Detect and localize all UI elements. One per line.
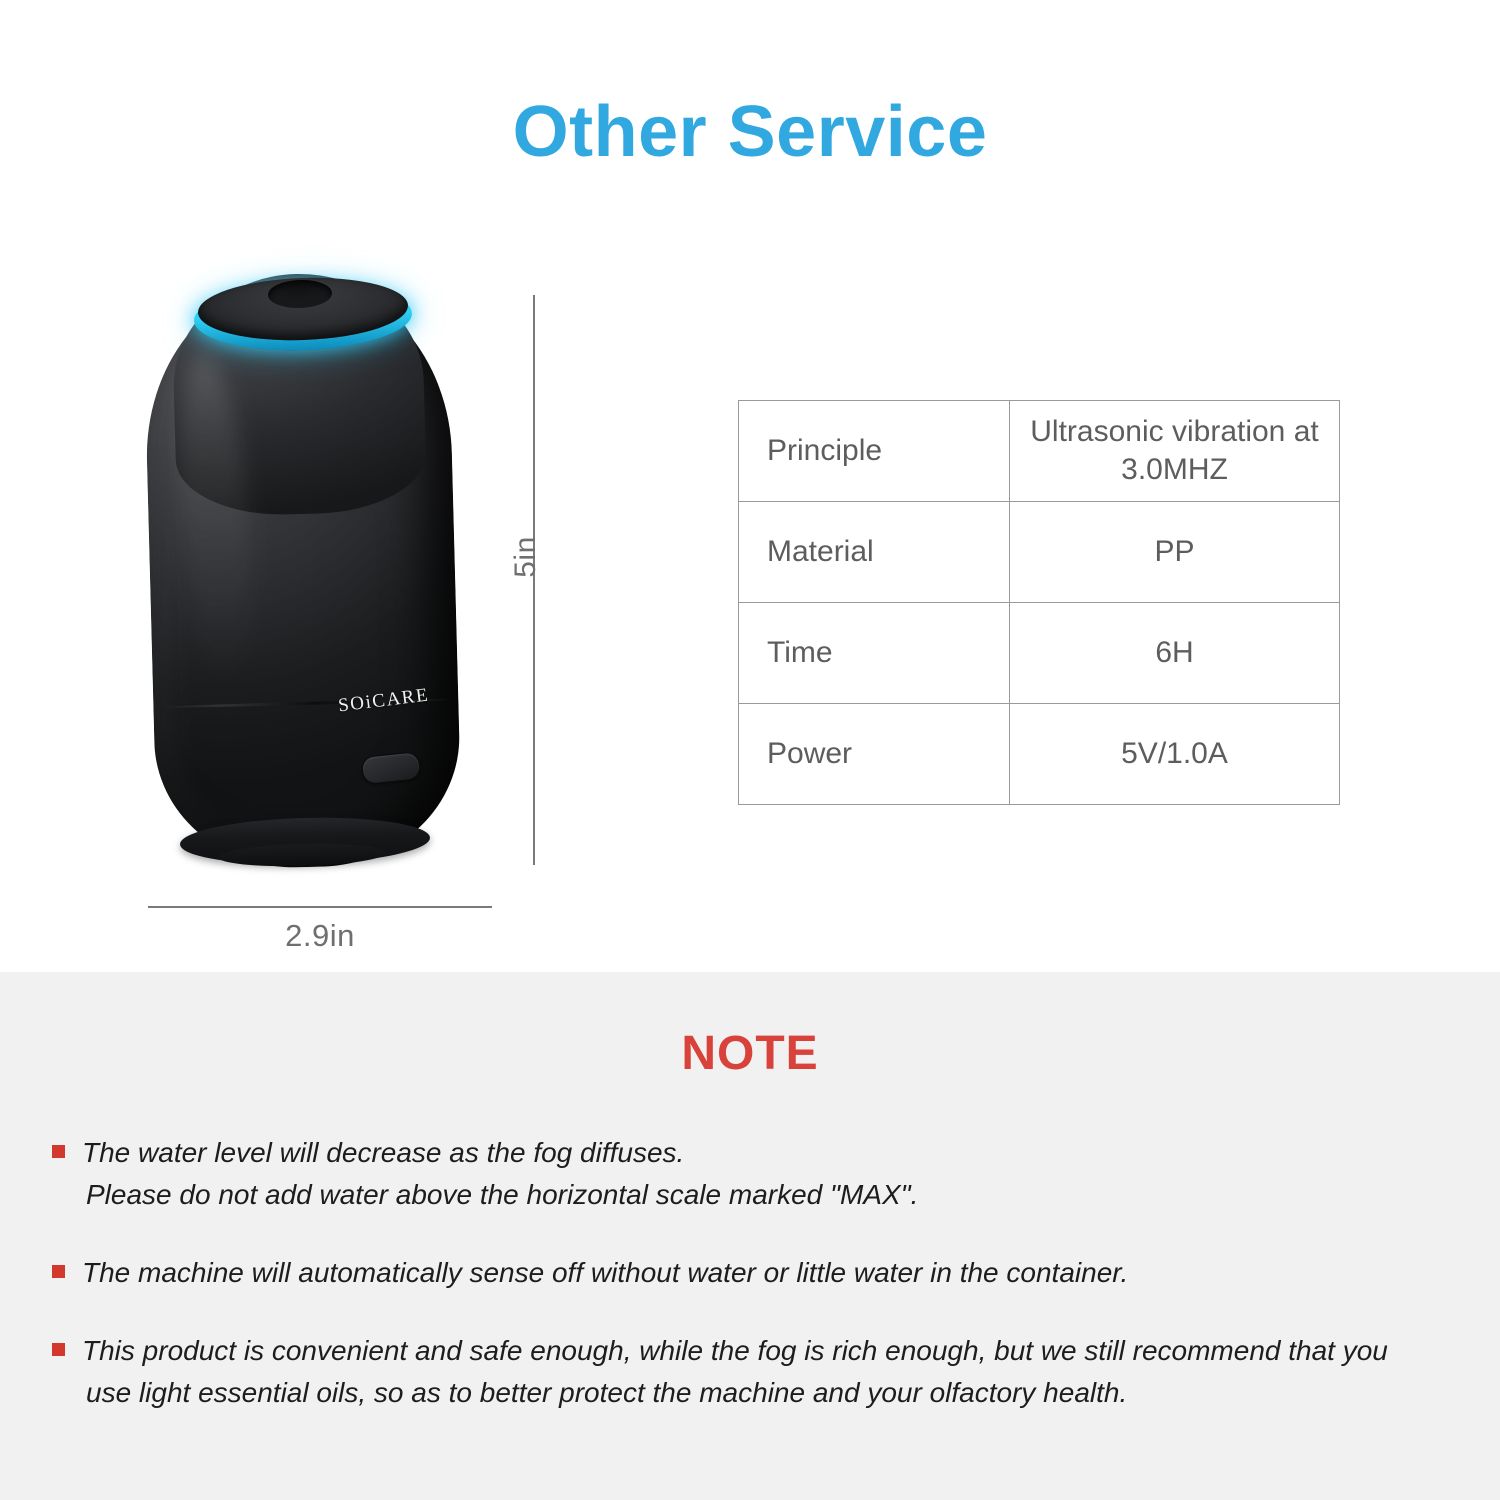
- spec-value: Ultrasonic vibration at 3.0MHZ: [1010, 401, 1340, 502]
- note-text-line: use light essential oils, so as to bette…: [82, 1372, 1466, 1414]
- note-text-line: The machine will automatically sense off…: [82, 1252, 1466, 1294]
- note-text-line: This product is convenient and safe enou…: [82, 1330, 1466, 1372]
- spec-table: Principle Ultrasonic vibration at 3.0MHZ…: [738, 400, 1340, 805]
- bullet-icon: [52, 1145, 65, 1158]
- note-section: NOTE The water level will decrease as th…: [0, 972, 1500, 1500]
- table-row: Material PP: [739, 502, 1340, 603]
- table-row: Time 6H: [739, 603, 1340, 704]
- table-row: Principle Ultrasonic vibration at 3.0MHZ: [739, 401, 1340, 502]
- list-item: The machine will automatically sense off…: [46, 1252, 1466, 1294]
- list-item: This product is convenient and safe enou…: [46, 1330, 1466, 1414]
- width-dimension-line: [148, 906, 492, 908]
- page-title: Other Service: [0, 96, 1500, 168]
- bullet-icon: [52, 1343, 65, 1356]
- spec-value: 6H: [1010, 603, 1340, 704]
- note-text-line: The water level will decrease as the fog…: [82, 1132, 1466, 1174]
- product-image: SOiCARE: [140, 262, 520, 882]
- note-list: The water level will decrease as the fog…: [46, 1132, 1466, 1450]
- spec-label: Material: [739, 502, 1010, 603]
- list-item: The water level will decrease as the fog…: [46, 1132, 1466, 1216]
- spec-label: Principle: [739, 401, 1010, 502]
- table-row: Power 5V/1.0A: [739, 704, 1340, 805]
- note-title: NOTE: [0, 1030, 1500, 1078]
- width-dimension-label: 2.9in: [148, 918, 492, 954]
- spec-value: PP: [1010, 502, 1340, 603]
- bullet-icon: [52, 1265, 65, 1278]
- spec-label: Time: [739, 603, 1010, 704]
- spec-label: Power: [739, 704, 1010, 805]
- note-text-line: Please do not add water above the horizo…: [82, 1174, 1466, 1216]
- height-dimension-line: [533, 295, 535, 865]
- spec-value: 5V/1.0A: [1010, 704, 1340, 805]
- height-dimension-label: 5in: [509, 536, 543, 578]
